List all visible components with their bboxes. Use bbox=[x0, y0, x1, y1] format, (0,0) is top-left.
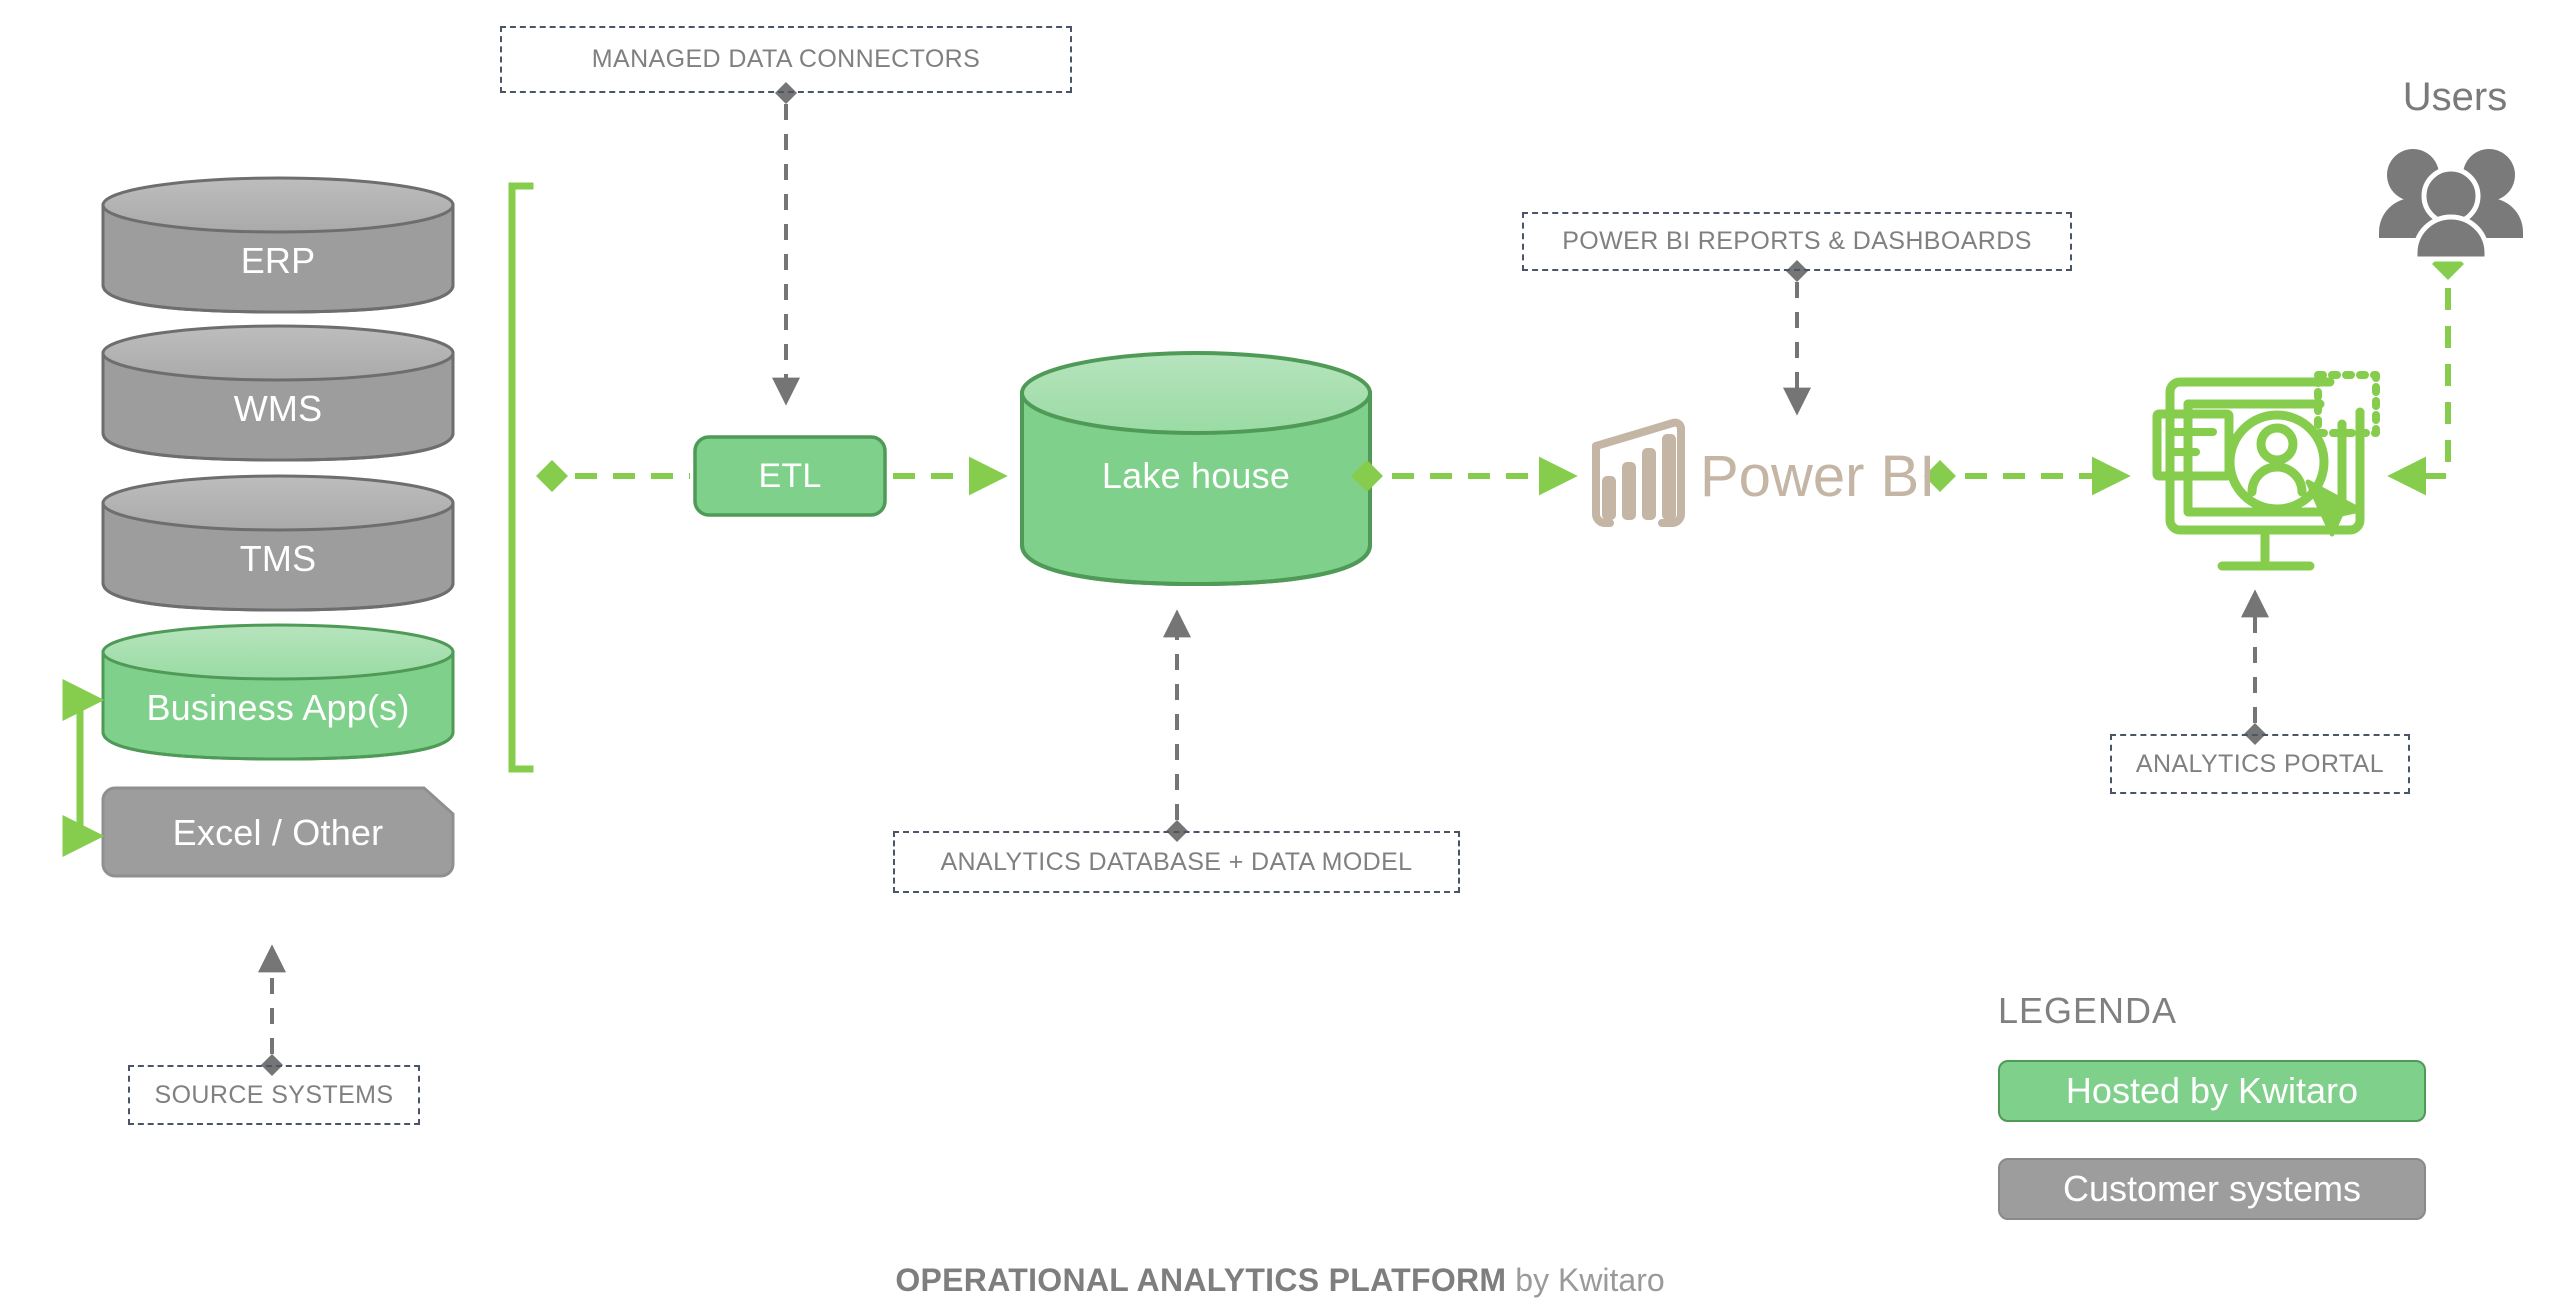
node-label-lakehouse: Lake house bbox=[1022, 455, 1370, 497]
annotation-label: ANALYTICS PORTAL bbox=[2136, 750, 2384, 779]
power-bi-logo-icon bbox=[1596, 423, 1681, 523]
users-label: Users bbox=[2380, 75, 2530, 120]
users-group-icon bbox=[2379, 149, 2523, 259]
legend-item-customer-systems[interactable]: Customer systems bbox=[1998, 1158, 2426, 1220]
node-label-excel-other: Excel / Other bbox=[103, 812, 453, 854]
node-label-business-apps: Business App(s) bbox=[93, 687, 463, 729]
connector-diamond-sources bbox=[536, 460, 568, 492]
annotation-analytics-database-data-model[interactable]: ANALYTICS DATABASE + DATA MODEL bbox=[893, 831, 1460, 893]
annotation-label: SOURCE SYSTEMS bbox=[155, 1081, 394, 1110]
legend-item-label: Customer systems bbox=[2063, 1168, 2361, 1210]
power-bi-wordmark: Power BI bbox=[1700, 443, 1935, 510]
node-label-erp: ERP bbox=[103, 240, 453, 282]
analytics-portal-monitor-icon[interactable] bbox=[2157, 375, 2376, 566]
legend-item-hosted-by-kwitaro[interactable]: Hosted by Kwitaro bbox=[1998, 1060, 2426, 1122]
annotation-managed-data-connectors[interactable]: MANAGED DATA CONNECTORS bbox=[500, 26, 1072, 93]
source-group-bracket bbox=[512, 186, 530, 769]
annotation-label: MANAGED DATA CONNECTORS bbox=[592, 45, 980, 74]
annotation-label: ANALYTICS DATABASE + DATA MODEL bbox=[940, 848, 1412, 877]
page-title-light: by Kwitaro bbox=[1506, 1262, 1664, 1298]
node-label-tms: TMS bbox=[103, 538, 453, 580]
diagram-canvas: ERP WMS TMS Business App(s) Excel / Othe… bbox=[0, 0, 2560, 1315]
node-label-etl: ETL bbox=[695, 457, 885, 496]
legend-title: LEGENDA bbox=[1998, 990, 2177, 1032]
annotation-power-bi-reports-dashboards[interactable]: POWER BI REPORTS & DASHBOARDS bbox=[1522, 212, 2072, 271]
page-title-bold: OPERATIONAL ANALYTICS PLATFORM bbox=[895, 1262, 1506, 1298]
link-users-to-portal bbox=[2395, 288, 2448, 476]
annotation-source-systems[interactable]: SOURCE SYSTEMS bbox=[128, 1065, 420, 1125]
annotation-analytics-portal[interactable]: ANALYTICS PORTAL bbox=[2110, 734, 2410, 794]
page-title: OPERATIONAL ANALYTICS PLATFORM by Kwitar… bbox=[0, 1262, 2560, 1299]
annotation-label: POWER BI REPORTS & DASHBOARDS bbox=[1562, 227, 2032, 256]
node-label-wms: WMS bbox=[103, 388, 453, 430]
legend-item-label: Hosted by Kwitaro bbox=[2066, 1070, 2358, 1112]
